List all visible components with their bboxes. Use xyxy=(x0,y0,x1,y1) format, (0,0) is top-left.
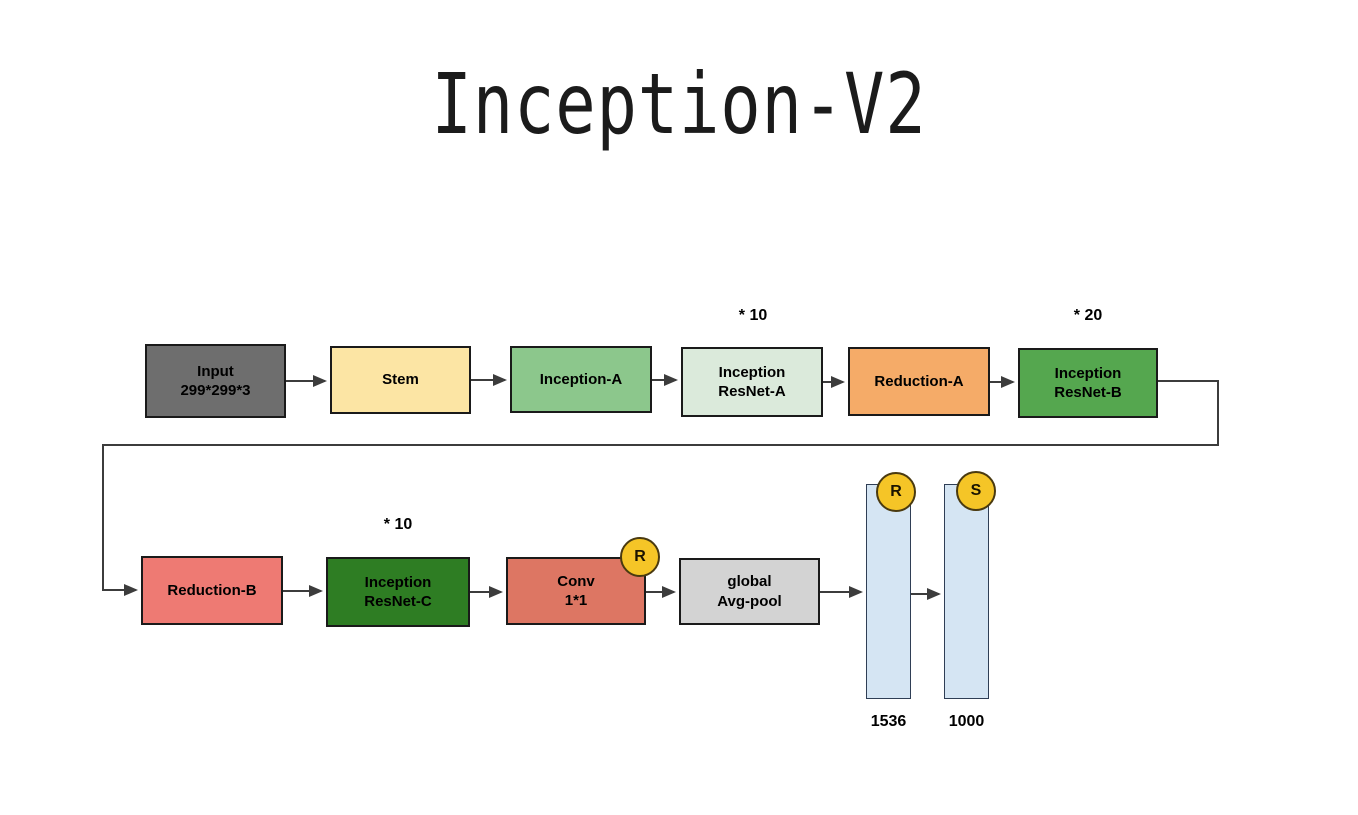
node-inception-resnet-b[interactable]: Inception ResNet-B xyxy=(1018,348,1158,418)
node-inception-resnet-a[interactable]: Inception ResNet-A xyxy=(681,347,823,417)
node-reduction-b[interactable]: Reduction-B xyxy=(141,556,283,625)
relu-badge-1536-icon: R xyxy=(876,472,916,512)
node-global-avg-pool-label-1: global xyxy=(727,573,771,590)
relu-badge-conv-icon: R xyxy=(620,537,660,577)
node-conv-1x1-label-1: Conv xyxy=(557,573,595,590)
node-conv-1x1-label-2: 1*1 xyxy=(557,591,595,611)
node-inception-resnet-c-label-2: ResNet-C xyxy=(364,592,432,612)
node-inception-resnet-b-label-2: ResNet-B xyxy=(1054,383,1122,403)
node-reduction-a-label-1: Reduction-A xyxy=(874,373,963,390)
softmax-badge-1000-icon: S xyxy=(956,471,996,511)
node-inception-resnet-a-label-1: Inception xyxy=(719,364,786,381)
node-inception-a[interactable]: Inception-A xyxy=(510,346,652,413)
node-global-avg-pool-label-2: Avg-pool xyxy=(717,592,781,612)
node-inception-resnet-c[interactable]: Inception ResNet-C xyxy=(326,557,470,627)
node-input-label-2: 299*299*3 xyxy=(180,381,250,401)
repeat-label-inception-resnet-a: * 10 xyxy=(713,307,793,325)
repeat-label-inception-resnet-c: * 10 xyxy=(358,516,438,534)
node-reduction-b-label-1: Reduction-B xyxy=(167,582,256,599)
vector-bar-1000[interactable] xyxy=(944,484,989,699)
node-reduction-a[interactable]: Reduction-A xyxy=(848,347,990,416)
page-title: Inception-V2 xyxy=(136,62,1222,146)
vector-bar-1000-label: 1000 xyxy=(916,713,1017,731)
node-inception-resnet-a-label-2: ResNet-A xyxy=(718,382,786,402)
node-stem[interactable]: Stem xyxy=(330,346,471,414)
node-stem-label-1: Stem xyxy=(382,371,419,388)
node-inception-resnet-b-label-1: Inception xyxy=(1055,365,1122,382)
node-input-label-1: Input xyxy=(197,363,234,380)
node-inception-a-label-1: Inception-A xyxy=(540,371,623,388)
node-input[interactable]: Input 299*299*3 xyxy=(145,344,286,418)
node-global-avg-pool[interactable]: global Avg-pool xyxy=(679,558,820,625)
repeat-label-inception-resnet-b: * 20 xyxy=(1048,307,1128,325)
diagram-canvas: Inception-V2 Input 299*299*3 xyxy=(0,0,1358,815)
vector-bar-1536[interactable] xyxy=(866,484,911,699)
node-inception-resnet-c-label-1: Inception xyxy=(365,574,432,591)
